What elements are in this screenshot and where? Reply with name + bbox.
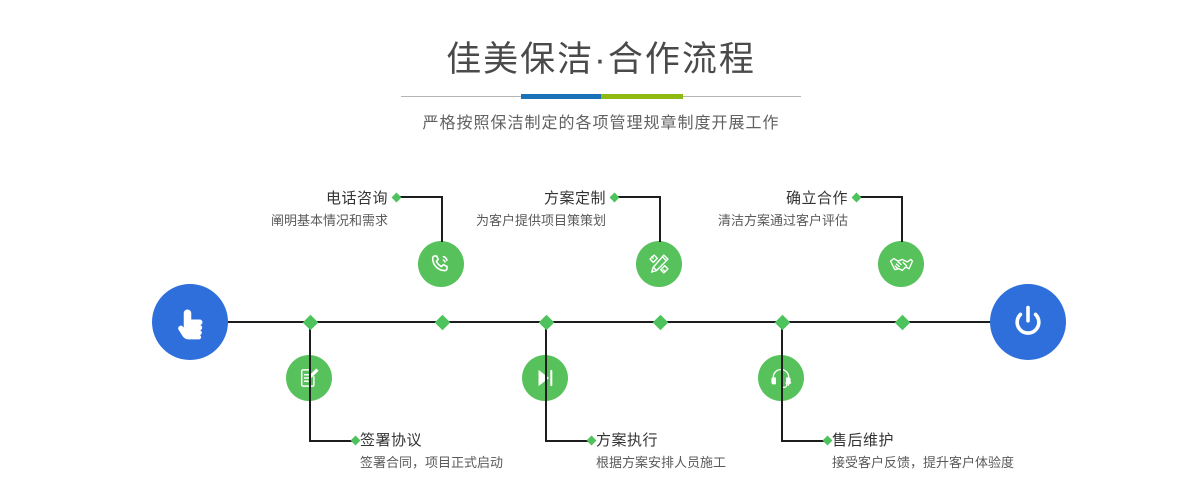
step-stem-2 — [309, 322, 311, 441]
timeline-start-node[interactable] — [152, 284, 228, 360]
step-label-marker-2 — [351, 436, 361, 446]
step-lead-2 — [309, 440, 355, 442]
step-subtitle-4: 根据方案安排人员施工 — [596, 453, 846, 473]
phone-call-icon — [428, 251, 454, 277]
step-node-3[interactable] — [636, 241, 682, 287]
process-timeline: 电话咨询 阐明基本情况和需求 签署协议 签署合同，项目正式启动 — [0, 0, 1202, 502]
step-stem-4 — [545, 322, 547, 441]
step-axis-marker-4 — [539, 315, 555, 331]
step-title-1: 电话咨询 — [150, 188, 388, 209]
step-title-6: 售后维护 — [832, 430, 1092, 451]
step-node-1[interactable] — [418, 241, 464, 287]
step-node-5[interactable] — [878, 241, 924, 287]
step-lead-5 — [856, 196, 902, 198]
step-axis-marker-1 — [435, 315, 451, 331]
step-lead-6 — [781, 440, 827, 442]
step-subtitle-2: 签署合同，项目正式启动 — [360, 453, 610, 473]
timeline-end-node[interactable] — [990, 284, 1066, 360]
pencil-ruler-icon — [646, 251, 672, 277]
step-title-5: 确立合作 — [610, 188, 848, 209]
step-caption-4: 方案执行 根据方案安排人员施工 — [596, 430, 846, 473]
step-axis-marker-5 — [895, 315, 911, 331]
step-subtitle-1: 阐明基本情况和需求 — [150, 211, 388, 231]
step-caption-5: 确立合作 清洁方案通过客户评估 — [610, 188, 848, 231]
step-caption-6: 售后维护 接受客户反馈，提升客户体验度 — [832, 430, 1092, 473]
pointing-hand-icon — [170, 302, 210, 342]
step-axis-marker-3 — [653, 315, 669, 331]
power-button-icon — [1007, 301, 1049, 343]
step-title-3: 方案定制 — [368, 188, 606, 209]
step-subtitle-6: 接受客户反馈，提升客户体验度 — [832, 453, 1092, 473]
step-label-marker-5 — [852, 193, 862, 203]
step-stem-6 — [781, 322, 783, 441]
cooperation-process-infographic: 佳美保洁·合作流程 严格按照保洁制定的各项管理规章制度开展工作 — [0, 0, 1202, 502]
step-caption-1: 电话咨询 阐明基本情况和需求 — [150, 188, 388, 231]
step-stem-5 — [901, 196, 903, 242]
step-caption-3: 方案定制 为客户提供项目策策划 — [368, 188, 606, 231]
handshake-icon — [888, 251, 915, 278]
step-lead-4 — [545, 440, 591, 442]
step-subtitle-3: 为客户提供项目策策划 — [368, 211, 606, 231]
step-subtitle-5: 清洁方案通过客户评估 — [610, 211, 848, 231]
step-axis-marker-2 — [303, 315, 319, 331]
step-caption-2: 签署协议 签署合同，项目正式启动 — [360, 430, 610, 473]
step-axis-marker-6 — [775, 315, 791, 331]
